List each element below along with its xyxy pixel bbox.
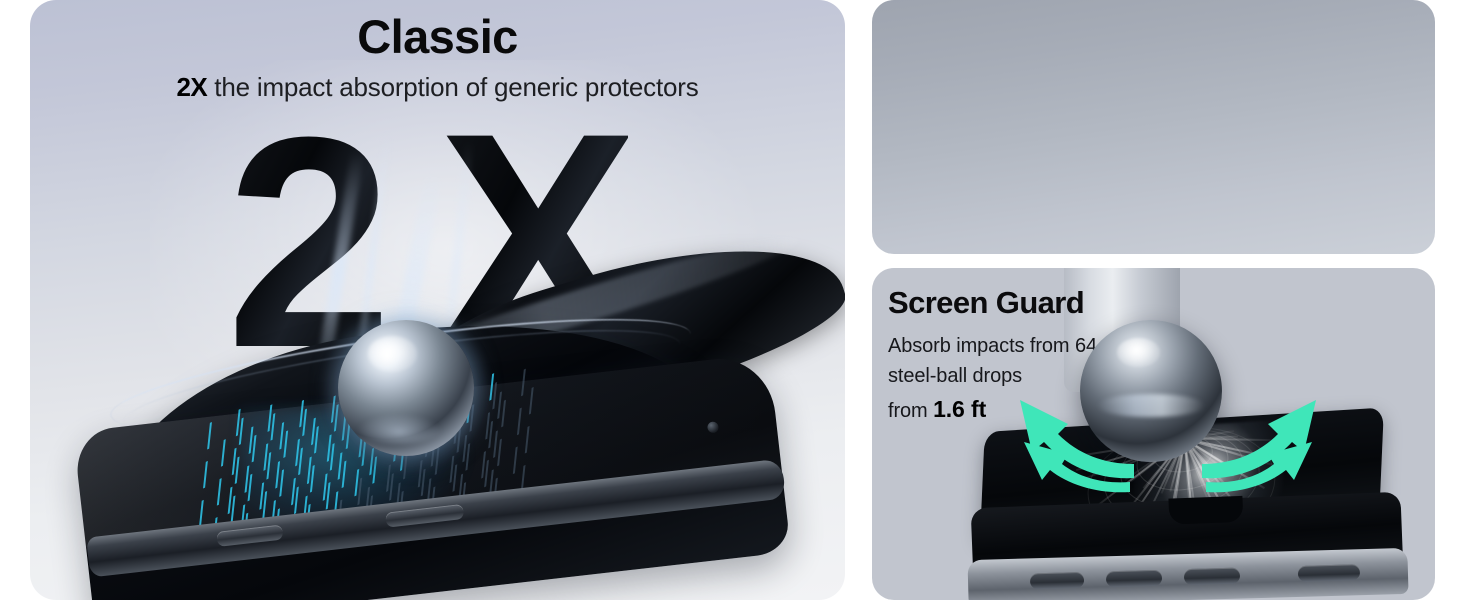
guard-body-measure: 1.6 ft <box>933 396 986 422</box>
guard-body-prefix: from <box>888 400 933 422</box>
phone-button <box>216 525 283 547</box>
phone-notch <box>1168 496 1243 525</box>
phone-port <box>1184 568 1240 586</box>
steel-ball-right <box>1080 320 1222 462</box>
phone-port <box>1298 564 1360 582</box>
military-grade-panel: MIL-STD-810H 516.8 MILITARY GRADE PROTEC… <box>872 0 1435 254</box>
phone-port <box>1030 572 1084 590</box>
subtitle-highlight: 2X <box>176 72 207 102</box>
screen-guard-title: Screen Guard <box>888 286 1198 320</box>
phone-button <box>385 504 464 528</box>
page-title: Classic <box>30 12 845 61</box>
screen-guard-panel: Screen Guard Absorb impacts from 64 g st… <box>872 268 1435 600</box>
subtitle: 2X the impact absorption of generic prot… <box>30 72 845 103</box>
subtitle-rest: the impact absorption of generic protect… <box>207 72 698 102</box>
product-feature-banner: 2 X Classic 2X the impact absorp <box>0 0 1464 600</box>
phone-port <box>1106 570 1162 588</box>
left-panel-header: Classic 2X the impact absorption of gene… <box>30 12 845 103</box>
left-feature-panel: 2 X Classic 2X the impact absorp <box>30 0 845 600</box>
steel-ball-left <box>338 320 474 456</box>
